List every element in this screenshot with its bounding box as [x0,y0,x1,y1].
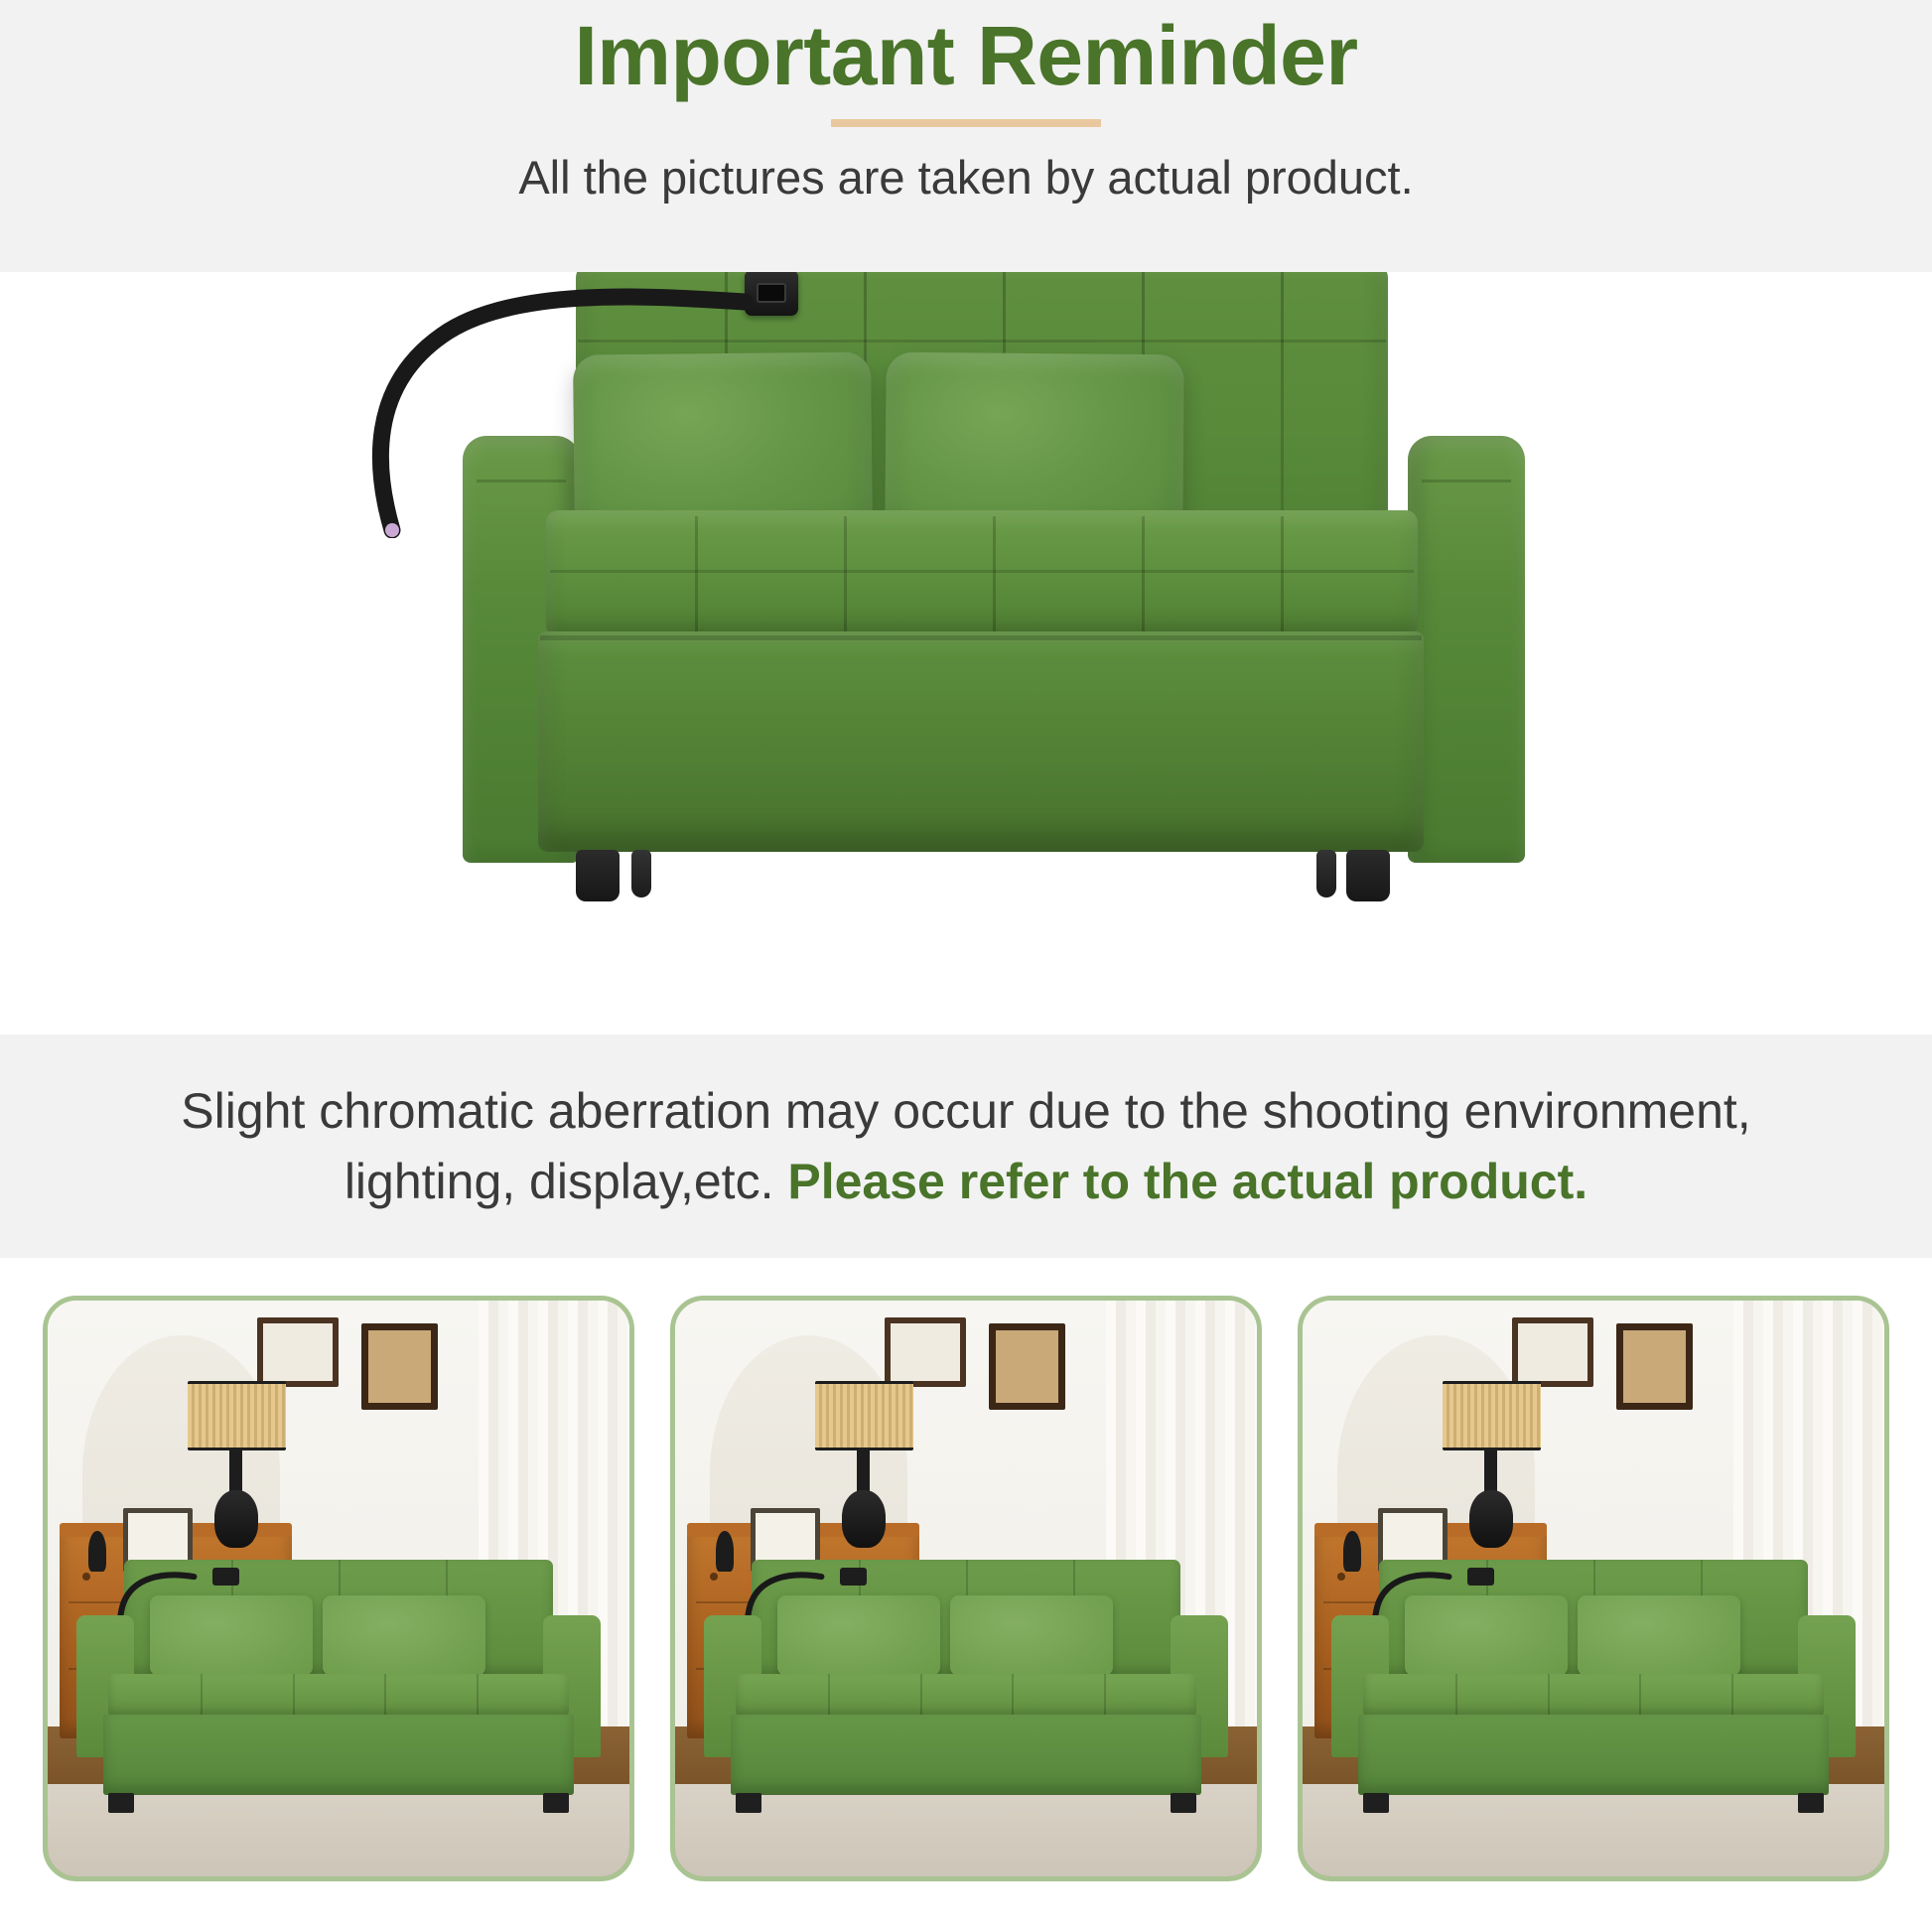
wall-frame [257,1317,339,1387]
disclaimer-line-2: lighting, display,etc. Please refer to t… [345,1147,1587,1217]
loveseat-sofa-illustration [427,272,1539,997]
seat-tuft-seam [828,1674,830,1717]
sofa-leg [1171,1793,1196,1813]
rattan-lamp-shade [1443,1381,1542,1450]
sofa-leg [1798,1793,1824,1813]
product-detail-page: Important Reminder All the pictures are … [0,0,1932,1932]
sofa-leg [543,1793,569,1813]
wall-frame [989,1323,1064,1410]
wall-frame [361,1323,437,1410]
page-title: Important Reminder [574,14,1357,97]
wall-frame [1616,1323,1692,1410]
room-scene [1303,1301,1884,1876]
disclaimer-band: Slight chromatic aberration may occur du… [0,1035,1932,1258]
sofa-leg [1363,1793,1389,1813]
seat-tuft-seam [1731,1674,1733,1717]
thumbnail-row [43,1296,1889,1881]
room-scene [48,1301,629,1876]
lamp-base [842,1490,887,1548]
seat-tuft-seam [920,1674,922,1717]
lamp-neck [857,1450,870,1496]
rattan-lamp-shade [188,1381,287,1450]
seat-tuft-seam [1639,1674,1641,1717]
seat-tuft-seam [201,1674,203,1717]
sofa-seat-cushion [1363,1674,1824,1717]
sofa-leg [1346,850,1390,901]
seat-tuft-seam [384,1674,386,1717]
power-port-slot [757,283,786,303]
accent-pillow-right [1578,1595,1739,1677]
sofa-seat-cushion [108,1674,569,1717]
sofa-seat-cushion [736,1674,1196,1717]
disclaimer-line-1: Slight chromatic aberration may occur du… [181,1076,1750,1147]
accent-pillow-left [777,1595,939,1677]
sofa-leg [108,1793,134,1813]
seat-tuft-seam [293,1674,295,1717]
sofa-leg [736,1793,761,1813]
rattan-lamp-shade [815,1381,914,1450]
accent-pillow-right [323,1595,484,1677]
wall-frame [885,1317,966,1387]
accent-pillow-left [1405,1595,1567,1677]
lamp-base [214,1490,259,1548]
room-scene [675,1301,1257,1876]
lamp-neck [229,1450,242,1496]
thumbnail-sofa [76,1560,600,1813]
accent-pillow-right [950,1595,1112,1677]
hero-product-image [0,272,1932,1035]
seat-tuft-seam [1104,1674,1106,1717]
seat-tuft-seam [1548,1674,1550,1717]
seat-tuft-seam [1455,1674,1457,1717]
sofa-leg [1316,850,1336,897]
sofa-leg [576,850,620,901]
disclaimer-emphasis-text: Please refer to the actual product. [787,1154,1587,1209]
wall-frame [1512,1317,1593,1387]
sofa-pullout-base [731,1715,1202,1796]
thumbnail-sofa [1331,1560,1855,1813]
seat-tuft-seam [1012,1674,1014,1717]
header-band: Important Reminder All the pictures are … [0,0,1932,272]
seat-tuft-seam [477,1674,479,1717]
sofa-pullout-base [103,1715,575,1796]
title-divider [831,119,1101,127]
hero-stage [0,272,1932,1035]
thumbnail-item[interactable] [1298,1296,1889,1881]
thumbnail-sofa [704,1560,1227,1813]
thumbnail-item[interactable] [670,1296,1262,1881]
disclaimer-plain-text: lighting, display,etc. [345,1154,788,1209]
sofa-leg [631,850,651,897]
accent-pillow-left [150,1595,312,1677]
sofa-pullout-base [1358,1715,1830,1796]
lamp-neck [1484,1450,1497,1496]
page-subtitle: All the pictures are taken by actual pro… [518,151,1413,205]
lamp-base [1469,1490,1514,1548]
charging-cable-icon [323,280,759,538]
thumbnail-item[interactable] [43,1296,634,1881]
